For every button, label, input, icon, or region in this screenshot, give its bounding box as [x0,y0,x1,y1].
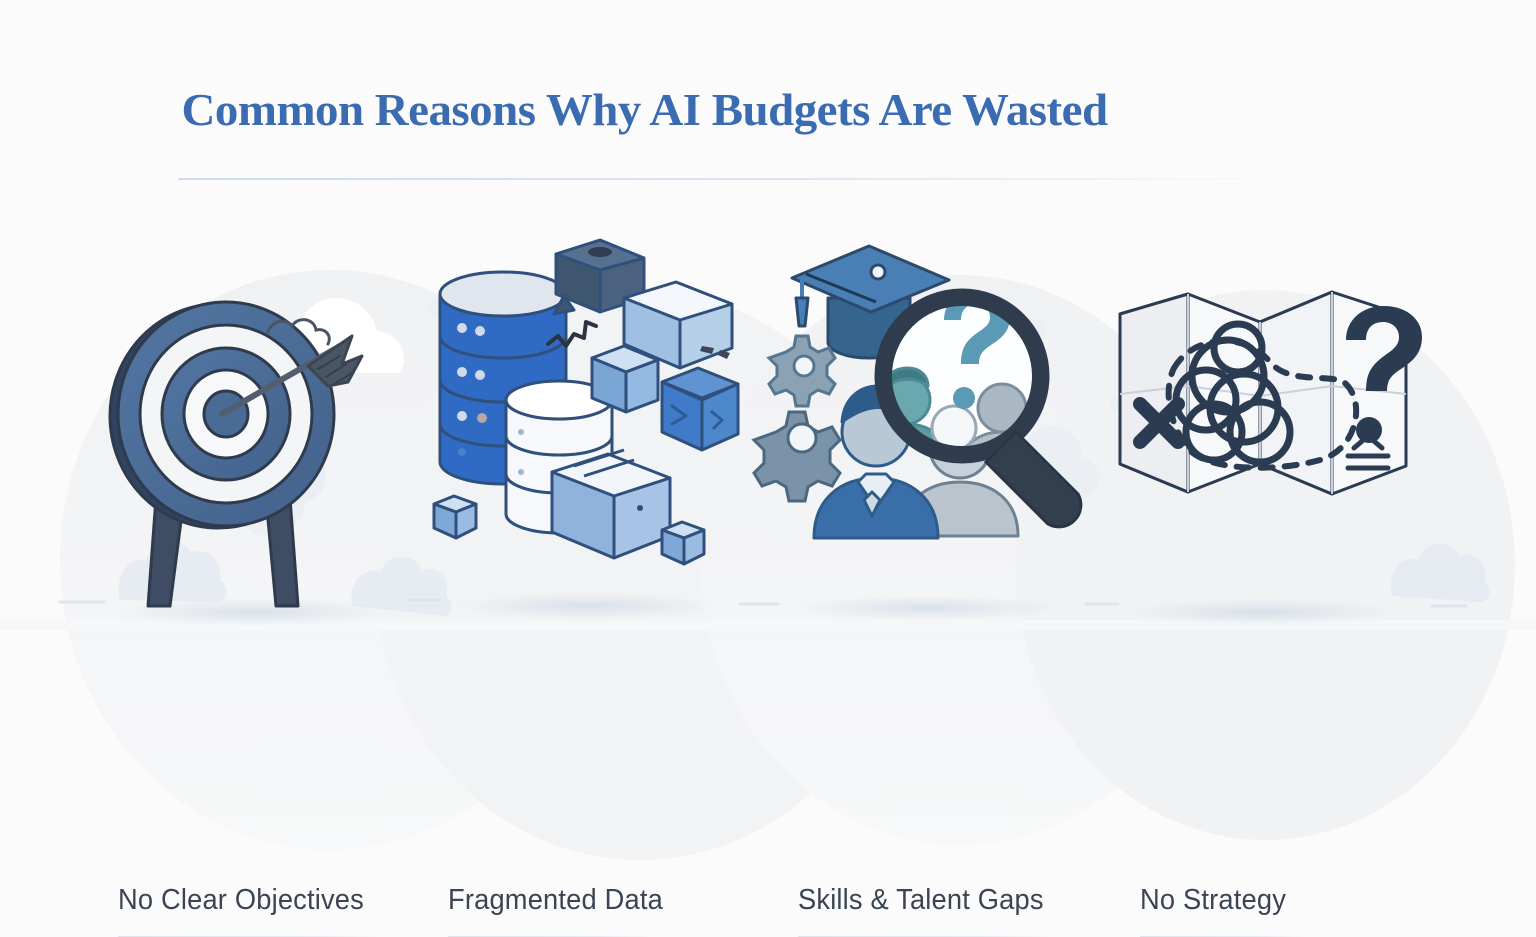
cube-icon [592,346,658,412]
box-open-icon [552,450,670,558]
gear-icon [769,336,835,406]
panel-no-strategy: No Strategy [1110,236,1440,636]
title-divider [178,178,1300,180]
label-no-strategy: No Strategy [1140,884,1286,917]
skills-gap-illustration [762,236,1102,636]
gear-icon [754,412,840,501]
illustration-canvas: Common Reasons Why AI Budgets Are Wasted [0,0,1536,864]
panel-fragmented-data: Fragmented Data [424,236,754,636]
map-icon [1110,236,1440,636]
page-title: Common Reasons Why AI Budgets Are Wasted [0,86,1536,134]
cube-small-icon [662,522,704,564]
cube-dark-icon [662,368,738,450]
label-skills-talent-gaps: Skills & Talent Gaps [798,884,1044,917]
label-no-clear-objectives: No Clear Objectives [118,884,364,917]
title-block: Common Reasons Why AI Budgets Are Wasted [0,86,1536,134]
fragmented-data-illustration [424,236,754,636]
cube-small-icon [434,496,476,538]
panel-no-clear-objectives: No Clear Objectives [90,236,420,636]
panel-skills-talent-gaps: Skills & Talent Gaps [762,236,1092,636]
label-fragmented-data: Fragmented Data [448,884,663,917]
target-icon [90,236,420,636]
